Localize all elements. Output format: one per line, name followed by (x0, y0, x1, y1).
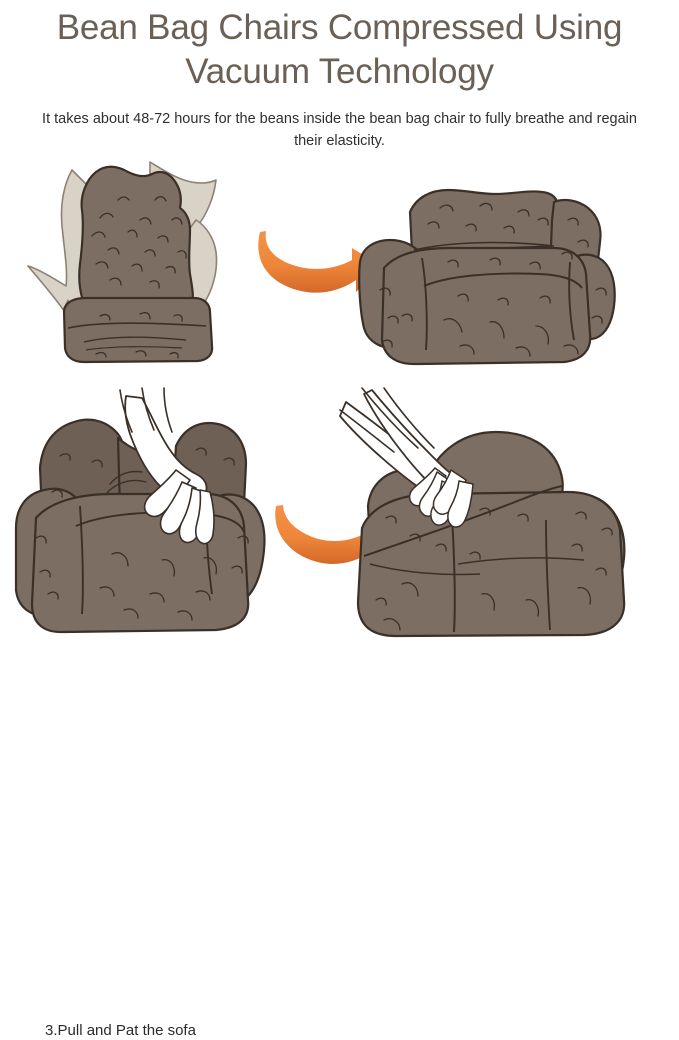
step-3-caption: 3.Pull and Pat the sofa (45, 1022, 196, 1040)
infographic-header: Bean Bag Chairs Compressed Using Vacuum … (0, 0, 679, 152)
step-2-panel: 2.Sofa wili be very wrinkled? (340, 150, 679, 395)
wrinkled-sofa-svg (340, 150, 679, 395)
press-sofa-firmly-illustration (340, 388, 679, 638)
press-sofa-firmly-svg (340, 388, 679, 638)
wrinkled-sofa-illustration (340, 150, 679, 395)
step-4-panel: 4.Press the sofa firmly (340, 388, 679, 657)
page-title: Bean Bag Chairs Compressed Using Vacuum … (0, 0, 679, 94)
page-subtitle: It takes about 48-72 hours for the beans… (0, 94, 679, 152)
